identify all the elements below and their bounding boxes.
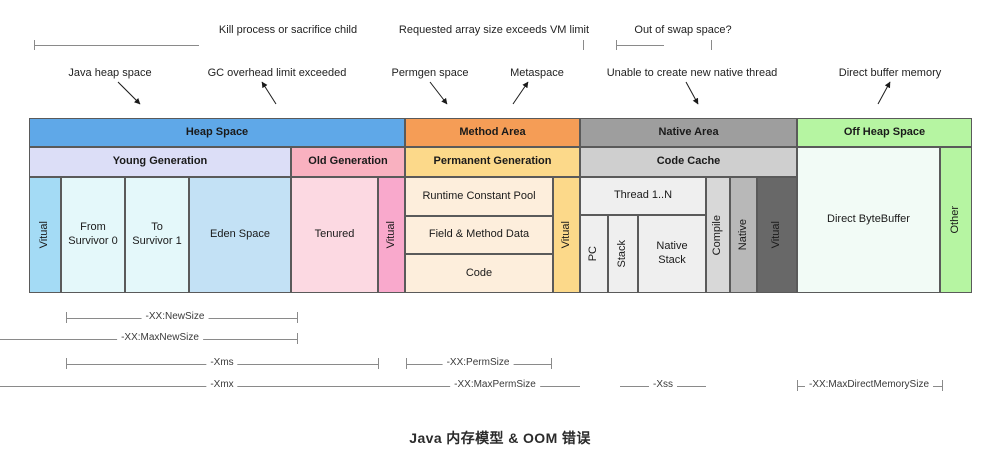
annotation-out-of-swap-space: Out of swap space?	[634, 24, 731, 36]
region-from-survivor-0[interactable]: FromSurvivor 0	[61, 177, 125, 293]
region-heap-space[interactable]: Heap Space	[29, 118, 405, 147]
annotation-kill-process: Kill process or sacrifice child	[219, 24, 357, 36]
region-label: Code Cache	[657, 155, 721, 169]
region-label: Off Heap Space	[844, 126, 925, 140]
region-thread-1-n[interactable]: Thread 1..N	[580, 177, 706, 215]
region-code[interactable]: Code	[405, 254, 553, 293]
param-label-xss: -Xss	[649, 379, 677, 390]
region-old-gen-virtual[interactable]: Vitual	[378, 177, 405, 293]
region-label: Vitual	[770, 221, 784, 248]
region-method-area[interactable]: Method Area	[405, 118, 580, 147]
annotation-requested-array-size: Requested array size exceeds VM limit	[399, 24, 589, 36]
region-code-cache[interactable]: Code Cache	[580, 147, 797, 177]
region-label: Old Generation	[308, 155, 387, 169]
region-young-generation[interactable]: Young Generation	[29, 147, 291, 177]
region-label: Native Area	[658, 126, 718, 140]
tick-swap-right	[711, 40, 712, 50]
annotation-direct-buffer-memory: Direct buffer memory	[839, 67, 942, 79]
memory-model-diagram: Heap Space Method Area Native Area Off H…	[29, 118, 972, 293]
region-direct-bytebuffer[interactable]: Direct ByteBuffer	[797, 147, 940, 293]
region-label: FromSurvivor 0	[68, 221, 118, 249]
annotation-permgen-space: Permgen space	[391, 67, 468, 79]
annotation-gc-overhead-limit: GC overhead limit exceeded	[208, 67, 347, 79]
region-label: Vitual	[38, 221, 52, 248]
region-pc[interactable]: PC	[580, 215, 608, 293]
region-permgen-virtual[interactable]: Vitual	[553, 177, 580, 293]
tick-xms-right	[378, 358, 379, 369]
region-label: Field & Method Data	[429, 228, 529, 242]
tick-newsize-right	[297, 312, 298, 323]
line-xmx	[0, 386, 405, 387]
region-stack[interactable]: Stack	[608, 215, 638, 293]
param-label-maxnewsize: -XX:MaxNewSize	[117, 332, 203, 343]
region-label: Young Generation	[113, 155, 208, 169]
page-title: Java 内存模型 & OOM 错误	[0, 428, 1000, 448]
region-label: Code	[466, 267, 492, 281]
region-young-virtual[interactable]: Vitual	[29, 177, 61, 293]
region-off-heap-space[interactable]: Off Heap Space	[797, 118, 972, 147]
region-tenured[interactable]: Tenured	[291, 177, 378, 293]
region-native-virtual[interactable]: Vitual	[757, 177, 797, 293]
region-label: Stack	[616, 240, 630, 268]
annotation-java-heap-space: Java heap space	[68, 67, 151, 79]
tick-maxnewsize-right	[297, 333, 298, 344]
region-runtime-constant-pool[interactable]: Runtime Constant Pool	[405, 177, 553, 216]
region-label: Heap Space	[186, 126, 248, 140]
region-label: Compile	[711, 215, 725, 255]
region-label: Thread 1..N	[614, 189, 672, 203]
region-label: Vitual	[560, 221, 574, 248]
param-label-xms: -Xms	[206, 357, 237, 368]
region-label: Tenured	[315, 228, 355, 242]
region-label: Runtime Constant Pool	[422, 190, 535, 204]
region-native-area[interactable]: Native Area	[580, 118, 797, 147]
region-label: Eden Space	[210, 228, 270, 242]
region-permanent-generation[interactable]: Permanent Generation	[405, 147, 580, 177]
region-label: Permanent Generation	[434, 155, 552, 169]
line-java-heap	[34, 45, 199, 46]
param-label-maxdirectmemorysize: -XX:MaxDirectMemorySize	[805, 379, 933, 390]
region-other[interactable]: Other	[940, 147, 972, 293]
region-label: Direct ByteBuffer	[827, 213, 910, 227]
region-eden-space[interactable]: Eden Space	[189, 177, 291, 293]
region-old-generation[interactable]: Old Generation	[291, 147, 405, 177]
region-label: PC	[587, 246, 601, 261]
tick-requested-array	[583, 40, 584, 50]
region-label: ToSurvivor 1	[132, 221, 182, 249]
region-label: Other	[949, 206, 963, 234]
region-to-survivor-1[interactable]: ToSurvivor 1	[125, 177, 189, 293]
line-swap	[616, 45, 664, 46]
region-native[interactable]: Native	[730, 177, 757, 293]
annotation-metaspace: Metaspace	[510, 67, 564, 79]
param-label-xmx: -Xmx	[206, 379, 237, 390]
region-label: Vitual	[385, 221, 399, 248]
region-compile[interactable]: Compile	[706, 177, 730, 293]
region-native-stack[interactable]: NativeStack	[638, 215, 706, 293]
param-label-maxpermsize: -XX:MaxPermSize	[450, 379, 540, 390]
region-label: Native	[737, 219, 751, 250]
param-label-newsize: -XX:NewSize	[142, 311, 209, 322]
region-field-method-data[interactable]: Field & Method Data	[405, 216, 553, 254]
region-label: NativeStack	[656, 240, 687, 268]
annotation-unable-create-native-thread: Unable to create new native thread	[607, 67, 778, 79]
param-label-permsize: -XX:PermSize	[443, 357, 514, 368]
tick-maxdirect-right	[942, 380, 943, 391]
tick-permsize-right	[551, 358, 552, 369]
region-label: Method Area	[459, 126, 525, 140]
